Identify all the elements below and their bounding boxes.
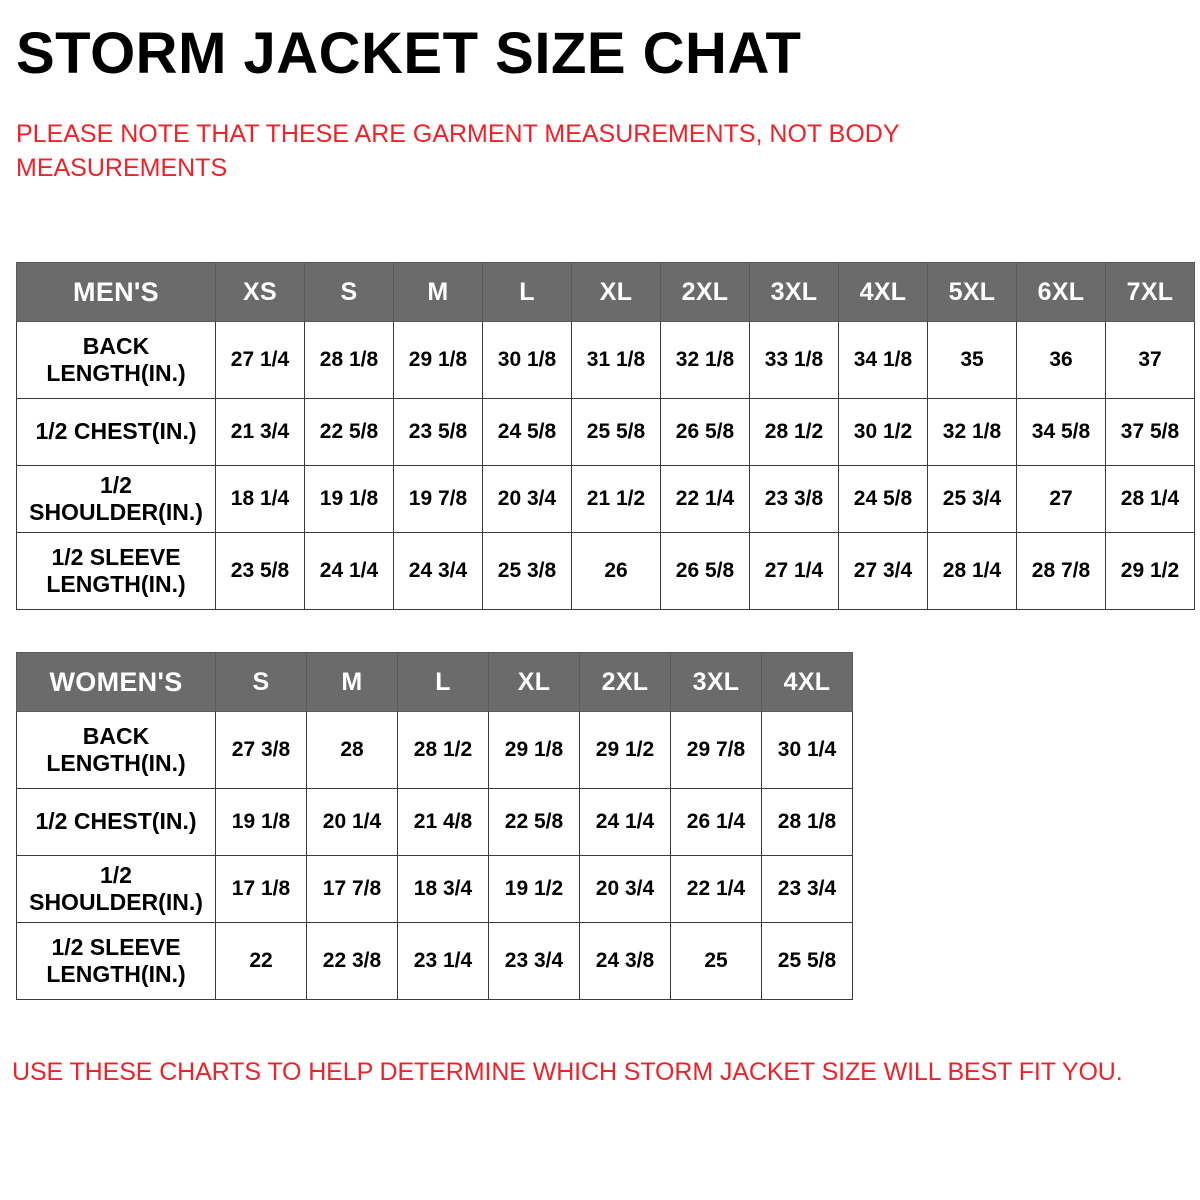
mens-cell-0-4: 31 1/8: [572, 322, 661, 399]
mens-cell-2-7: 24 5/8: [839, 466, 928, 533]
mens-cell-3-7: 27 3/4: [839, 533, 928, 610]
womens-cell-1-6: 28 1/8: [762, 789, 853, 856]
womens-size-header-3xl: 3XL: [671, 653, 762, 712]
mens-cell-1-6: 28 1/2: [750, 399, 839, 466]
mens-size-header-4xl: 4XL: [839, 263, 928, 322]
mens-cell-2-0: 18 1/4: [216, 466, 305, 533]
mens-cell-3-9: 28 7/8: [1017, 533, 1106, 610]
womens-row-label-3: 1/2 SLEEVELENGTH(IN.): [17, 923, 216, 1000]
mens-cell-0-5: 32 1/8: [661, 322, 750, 399]
womens-cell-3-1: 22 3/8: [307, 923, 398, 1000]
womens-cell-2-2: 18 3/4: [398, 856, 489, 923]
mens-size-header-xs: XS: [216, 263, 305, 322]
womens-row-label-1: 1/2 CHEST(IN.): [17, 789, 216, 856]
mens-cell-0-2: 29 1/8: [394, 322, 483, 399]
womens-cell-2-3: 19 1/2: [489, 856, 580, 923]
womens-cell-2-6: 23 3/4: [762, 856, 853, 923]
womens-cell-1-2: 21 4/8: [398, 789, 489, 856]
table-row: 1/2 SLEEVELENGTH(IN.)2222 3/823 1/423 3/…: [17, 923, 853, 1000]
womens-cell-1-4: 24 1/4: [580, 789, 671, 856]
mens-cell-2-9: 27: [1017, 466, 1106, 533]
womens-cell-1-0: 19 1/8: [216, 789, 307, 856]
mens-cell-1-7: 30 1/2: [839, 399, 928, 466]
womens-cell-2-5: 22 1/4: [671, 856, 762, 923]
womens-header-row: WOMEN'SSMLXL2XL3XL4XL: [17, 653, 853, 712]
mens-cell-0-10: 37: [1106, 322, 1195, 399]
mens-size-header-l: L: [483, 263, 572, 322]
table-row: 1/2 CHEST(IN.)21 3/422 5/823 5/824 5/825…: [17, 399, 1195, 466]
womens-size-header-s: S: [216, 653, 307, 712]
womens-row-label-2: 1/2 SHOULDER(IN.): [17, 856, 216, 923]
mens-cell-1-1: 22 5/8: [305, 399, 394, 466]
mens-cell-1-9: 34 5/8: [1017, 399, 1106, 466]
table-row: 1/2 SHOULDER(IN.)18 1/419 1/819 7/820 3/…: [17, 466, 1195, 533]
mens-size-header-s: S: [305, 263, 394, 322]
womens-cell-1-3: 22 5/8: [489, 789, 580, 856]
mens-size-table-container: MEN'SXSSMLXL2XL3XL4XL5XL6XL7XL BACKLENGT…: [16, 262, 1195, 610]
mens-size-header-6xl: 6XL: [1017, 263, 1106, 322]
mens-size-header-3xl: 3XL: [750, 263, 839, 322]
womens-cell-2-1: 17 7/8: [307, 856, 398, 923]
womens-row-label-0: BACKLENGTH(IN.): [17, 712, 216, 789]
table-row: 1/2 SHOULDER(IN.)17 1/817 7/818 3/419 1/…: [17, 856, 853, 923]
womens-cell-3-3: 23 3/4: [489, 923, 580, 1000]
womens-size-table-container: WOMEN'SSMLXL2XL3XL4XL BACKLENGTH(IN.)27 …: [16, 652, 853, 1000]
mens-cell-1-3: 24 5/8: [483, 399, 572, 466]
womens-table-body: BACKLENGTH(IN.)27 3/82828 1/229 1/829 1/…: [17, 712, 853, 1000]
womens-cell-0-4: 29 1/2: [580, 712, 671, 789]
mens-cell-3-8: 28 1/4: [928, 533, 1017, 610]
table-row: 1/2 SLEEVELENGTH(IN.)23 5/824 1/424 3/42…: [17, 533, 1195, 610]
page-title: STORM JACKET SIZE CHAT: [16, 24, 801, 85]
mens-header-row: MEN'SXSSMLXL2XL3XL4XL5XL6XL7XL: [17, 263, 1195, 322]
womens-size-header-xl: XL: [489, 653, 580, 712]
mens-size-header-7xl: 7XL: [1106, 263, 1195, 322]
mens-cell-3-6: 27 1/4: [750, 533, 839, 610]
mens-cell-3-3: 25 3/8: [483, 533, 572, 610]
mens-row-label-2: 1/2 SHOULDER(IN.): [17, 466, 216, 533]
mens-table-head: MEN'SXSSMLXL2XL3XL4XL5XL6XL7XL: [17, 263, 1195, 322]
mens-cell-1-2: 23 5/8: [394, 399, 483, 466]
mens-cell-0-3: 30 1/8: [483, 322, 572, 399]
mens-cell-2-1: 19 1/8: [305, 466, 394, 533]
womens-cell-3-0: 22: [216, 923, 307, 1000]
womens-cell-0-5: 29 7/8: [671, 712, 762, 789]
mens-cell-2-6: 23 3/8: [750, 466, 839, 533]
womens-size-table: WOMEN'SSMLXL2XL3XL4XL BACKLENGTH(IN.)27 …: [16, 652, 853, 1000]
table-row: BACKLENGTH(IN.)27 3/82828 1/229 1/829 1/…: [17, 712, 853, 789]
womens-cell-0-0: 27 3/8: [216, 712, 307, 789]
mens-cell-3-5: 26 5/8: [661, 533, 750, 610]
mens-corner-header: MEN'S: [17, 263, 216, 322]
table-row: BACKLENGTH(IN.)27 1/428 1/829 1/830 1/83…: [17, 322, 1195, 399]
womens-cell-0-6: 30 1/4: [762, 712, 853, 789]
mens-cell-0-1: 28 1/8: [305, 322, 394, 399]
mens-cell-3-1: 24 1/4: [305, 533, 394, 610]
womens-cell-2-0: 17 1/8: [216, 856, 307, 923]
mens-size-header-5xl: 5XL: [928, 263, 1017, 322]
mens-cell-1-0: 21 3/4: [216, 399, 305, 466]
mens-cell-2-2: 19 7/8: [394, 466, 483, 533]
mens-cell-2-5: 22 1/4: [661, 466, 750, 533]
womens-size-header-l: L: [398, 653, 489, 712]
womens-corner-header: WOMEN'S: [17, 653, 216, 712]
mens-row-label-1: 1/2 CHEST(IN.): [17, 399, 216, 466]
mens-cell-3-10: 29 1/2: [1106, 533, 1195, 610]
footer-usage-note: USE THESE CHARTS TO HELP DETERMINE WHICH…: [12, 1058, 1192, 1087]
mens-cell-2-10: 28 1/4: [1106, 466, 1195, 533]
mens-size-header-m: M: [394, 263, 483, 322]
mens-cell-1-10: 37 5/8: [1106, 399, 1195, 466]
table-row: 1/2 CHEST(IN.)19 1/820 1/421 4/822 5/824…: [17, 789, 853, 856]
mens-cell-2-8: 25 3/4: [928, 466, 1017, 533]
mens-row-label-0: BACKLENGTH(IN.): [17, 322, 216, 399]
womens-cell-2-4: 20 3/4: [580, 856, 671, 923]
mens-cell-1-4: 25 5/8: [572, 399, 661, 466]
womens-table-head: WOMEN'SSMLXL2XL3XL4XL: [17, 653, 853, 712]
mens-cell-1-5: 26 5/8: [661, 399, 750, 466]
womens-cell-0-1: 28: [307, 712, 398, 789]
womens-cell-0-2: 28 1/2: [398, 712, 489, 789]
mens-cell-2-4: 21 1/2: [572, 466, 661, 533]
mens-cell-0-9: 36: [1017, 322, 1106, 399]
mens-cell-0-0: 27 1/4: [216, 322, 305, 399]
mens-cell-3-2: 24 3/4: [394, 533, 483, 610]
mens-cell-3-4: 26: [572, 533, 661, 610]
womens-cell-3-6: 25 5/8: [762, 923, 853, 1000]
size-chart-page: STORM JACKET SIZE CHAT PLEASE NOTE THAT …: [0, 0, 1200, 1200]
mens-cell-1-8: 32 1/8: [928, 399, 1017, 466]
womens-size-header-4xl: 4XL: [762, 653, 853, 712]
womens-cell-1-1: 20 1/4: [307, 789, 398, 856]
womens-cell-1-5: 26 1/4: [671, 789, 762, 856]
womens-size-header-2xl: 2XL: [580, 653, 671, 712]
womens-cell-3-5: 25: [671, 923, 762, 1000]
mens-cell-0-7: 34 1/8: [839, 322, 928, 399]
mens-size-table: MEN'SXSSMLXL2XL3XL4XL5XL6XL7XL BACKLENGT…: [16, 262, 1195, 610]
garment-measurement-note: PLEASE NOTE THAT THESE ARE GARMENT MEASU…: [16, 118, 1016, 186]
womens-cell-3-4: 24 3/8: [580, 923, 671, 1000]
mens-table-body: BACKLENGTH(IN.)27 1/428 1/829 1/830 1/83…: [17, 322, 1195, 610]
mens-size-header-xl: XL: [572, 263, 661, 322]
womens-cell-3-2: 23 1/4: [398, 923, 489, 1000]
mens-cell-3-0: 23 5/8: [216, 533, 305, 610]
womens-cell-0-3: 29 1/8: [489, 712, 580, 789]
mens-cell-2-3: 20 3/4: [483, 466, 572, 533]
mens-size-header-2xl: 2XL: [661, 263, 750, 322]
mens-cell-0-8: 35: [928, 322, 1017, 399]
womens-size-header-m: M: [307, 653, 398, 712]
mens-row-label-3: 1/2 SLEEVELENGTH(IN.): [17, 533, 216, 610]
mens-cell-0-6: 33 1/8: [750, 322, 839, 399]
